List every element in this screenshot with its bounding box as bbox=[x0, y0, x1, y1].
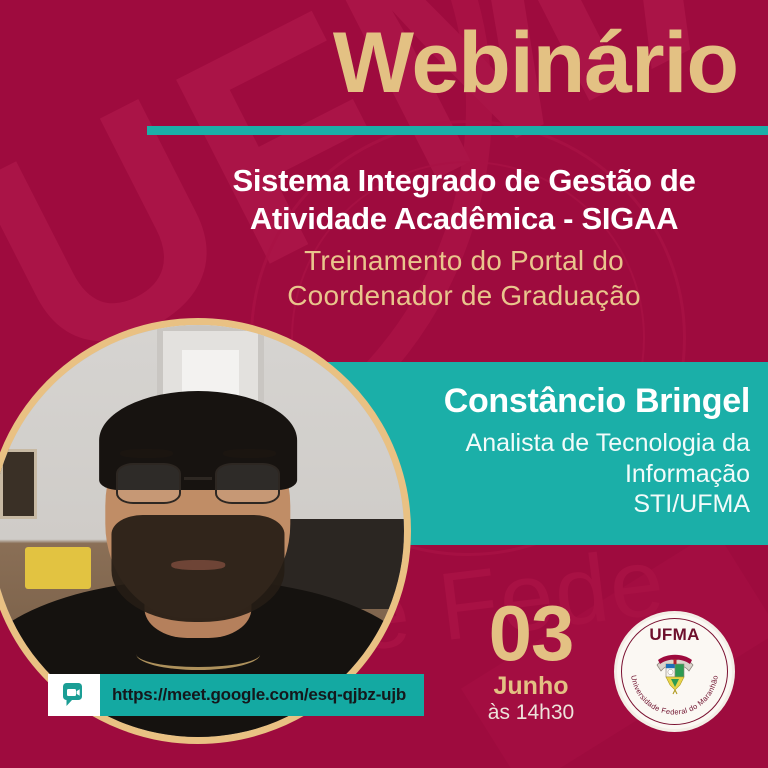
headline-line-2: Atividade Acadêmica - SIGAA bbox=[184, 200, 744, 238]
subheadline: Treinamento do Portal do Coordenador de … bbox=[184, 243, 744, 313]
photo-yellow-object bbox=[25, 547, 91, 588]
page-title: Webinário bbox=[333, 18, 738, 108]
photo-necklace bbox=[136, 638, 260, 670]
subheadline-line-2: Coordenador de Graduação bbox=[184, 278, 744, 313]
photo-eyeglass-left bbox=[116, 463, 182, 504]
speaker-role-line-3: STI/UFMA bbox=[466, 489, 750, 520]
subheadline-line-1: Treinamento do Portal do bbox=[184, 243, 744, 278]
photo-wall-frame bbox=[0, 449, 37, 519]
photo-eyebrow-right bbox=[223, 449, 277, 458]
speaker-name: Constâncio Bringel bbox=[444, 382, 750, 421]
meeting-url[interactable]: https://meet.google.com/esq-qjbz-ujb bbox=[100, 674, 424, 716]
headline: Sistema Integrado de Gestão de Atividade… bbox=[184, 162, 744, 238]
webinar-poster: UFMA e Fede Webinário Sistema Integrado … bbox=[0, 0, 768, 768]
photo-eyebrow-left bbox=[120, 449, 174, 458]
event-month: Junho bbox=[456, 674, 606, 699]
event-day: 03 bbox=[456, 594, 606, 672]
speaker-role: Analista de Tecnologia da Informação STI… bbox=[466, 428, 750, 520]
meeting-link-bar[interactable]: https://meet.google.com/esq-qjbz-ujb bbox=[48, 674, 424, 716]
google-meet-icon bbox=[48, 674, 100, 716]
event-time: às 14h30 bbox=[456, 702, 606, 723]
photo-eyeglass-bridge bbox=[184, 477, 213, 480]
photo-mouth bbox=[171, 560, 225, 570]
title-divider bbox=[147, 126, 768, 135]
headline-line-1: Sistema Integrado de Gestão de bbox=[184, 162, 744, 200]
photo-eyeglass-right bbox=[215, 463, 281, 504]
speaker-role-line-2: Informação bbox=[466, 459, 750, 490]
speaker-role-line-1: Analista de Tecnologia da bbox=[466, 428, 750, 459]
ufma-logo: UFMA Universidade Federal do Maranhão UF… bbox=[617, 614, 732, 729]
ufma-crest-icon: UFMA bbox=[649, 645, 701, 697]
